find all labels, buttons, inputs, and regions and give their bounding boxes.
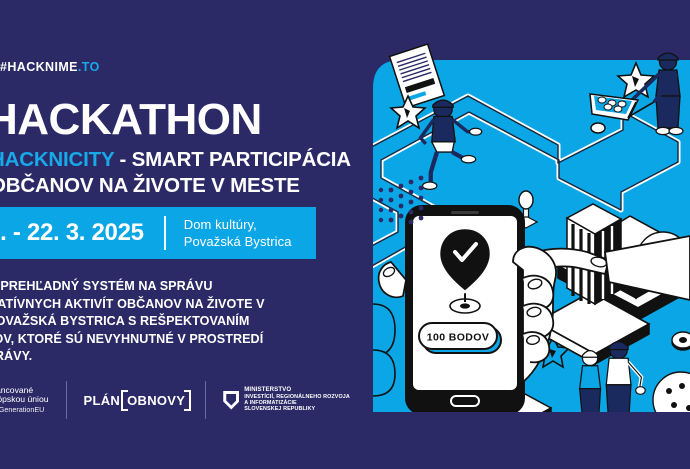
ministry-line-4: SLOVENSKEJ REPUBLIKY	[244, 406, 350, 412]
funding-logos: Financované Európskou úniou NextGenerati…	[0, 377, 350, 423]
eu-funding-text: Financované Európskou úniou NextGenerati…	[0, 386, 49, 415]
plan-obnovy-logo: PLÁN OBNOVY	[84, 377, 189, 423]
band-divider	[164, 216, 166, 250]
brand-logo-name: #HACKNIME	[0, 60, 78, 74]
illus-bottom-band	[373, 412, 690, 469]
poster-canvas: 100 BODOV	[0, 0, 690, 469]
subtitle-rest: - SMART PARTICIPÁCIA	[114, 148, 351, 171]
eu-line-3: NextGenerationEU	[0, 405, 49, 415]
event-date: 21. - 22. 3. 2025	[0, 219, 144, 247]
eu-funding-logo: Financované Európskou úniou NextGenerati…	[0, 377, 49, 423]
points-badge[interactable]: 100 BODOV	[419, 323, 501, 353]
ministry-text: MINISTERSTVO INVESTÍCIÍ, REGIONÁLNEHO RO…	[244, 387, 350, 413]
subtitle: HACKNICITY - SMART PARTICIPÁCIA OBČANOV …	[0, 147, 351, 199]
wheel-token	[672, 332, 690, 350]
brand-logo-tld: .TO	[78, 60, 100, 74]
brand-logo: #HACKNIME.TO	[0, 60, 100, 74]
halftone-dot-pattern	[373, 168, 435, 226]
plan-word-1: PLÁN	[84, 393, 121, 408]
footer-separator	[66, 381, 67, 419]
illustration-panel: 100 BODOV	[373, 0, 690, 469]
venue-line-1: Dom kultúry,	[184, 216, 292, 233]
text-column: #HACKNIME.TO HACKATHON HACKNICITY - SMAR…	[0, 0, 368, 469]
event-venue: Dom kultúry, Považská Bystrica	[184, 216, 292, 250]
phone-speaker	[451, 211, 479, 214]
eu-line-2: Európskou úniou	[0, 395, 49, 405]
plan-word-2: OBNOVY	[124, 392, 188, 409]
subtitle-line2: OBČANOV NA ŽIVOTE V MESTE	[0, 173, 351, 199]
date-venue-band: 21. - 22. 3. 2025 Dom kultúry, Považská …	[0, 207, 316, 259]
slovak-crest-icon	[223, 391, 239, 410]
footer-separator	[205, 381, 206, 419]
subtitle-highlight: HACKNICITY	[0, 148, 114, 171]
isometric-city-illustration: 100 BODOV	[373, 0, 690, 469]
venue-line-2: Považská Bystrica	[184, 233, 292, 250]
ministry-logo: MINISTERSTVO INVESTÍCIÍ, REGIONÁLNEHO RO…	[223, 377, 350, 423]
points-badge-label: 100 BODOV	[427, 332, 490, 344]
page-title: HACKATHON	[0, 97, 262, 143]
challenge-description: NAVRHNI PREHĽADNÝ SYSTÉM NA SPRÁVU PARTI…	[0, 278, 310, 366]
